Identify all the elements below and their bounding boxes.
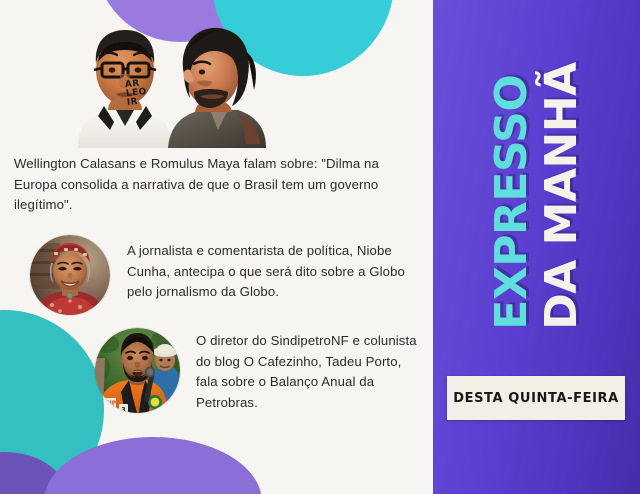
avatar-tadeu-porto-photo: FUP 3 <box>95 328 180 413</box>
avatar-niobe-cunha-photo <box>30 235 110 315</box>
svg-text:FUP: FUP <box>103 400 117 407</box>
segment-text-niobe-globo: A jornalista e comentarista de política,… <box>127 241 427 303</box>
svg-text:3: 3 <box>121 406 126 414</box>
show-title: EXPRESSO DA MANHÃ <box>487 62 587 329</box>
airdate-badge: DESTA QUINTA-FEIRA <box>447 376 625 420</box>
artist-signature: AR LEO IR <box>125 79 148 108</box>
avatar-niobe-cunha <box>30 235 110 315</box>
segment-text-dilma-europa: Wellington Calasans e Romulus Maya falam… <box>14 154 414 216</box>
avatar-tadeu-porto: FUP 3 <box>95 328 180 413</box>
segment-text-tadeu-petrobras: O diretor do SindipetroNF e colunista do… <box>196 331 426 413</box>
portrait-romulus-maya <box>168 28 266 148</box>
portrait-illustration-art <box>60 18 320 148</box>
poster-root: AR LEO IR Wellington Calasans e Romulus … <box>0 0 640 494</box>
brand-panel: EXPRESSO DA MANHÃ DESTA QUINTA-FEIRA <box>433 0 640 494</box>
portrait-illustration: AR LEO IR <box>60 18 320 148</box>
show-title-line2: DA MANHÃ <box>537 62 587 329</box>
content-column: AR LEO IR Wellington Calasans e Romulus … <box>0 0 433 494</box>
airdate-badge-label: DESTA QUINTA-FEIRA <box>453 391 619 406</box>
show-title-line1: EXPRESSO <box>487 62 537 329</box>
